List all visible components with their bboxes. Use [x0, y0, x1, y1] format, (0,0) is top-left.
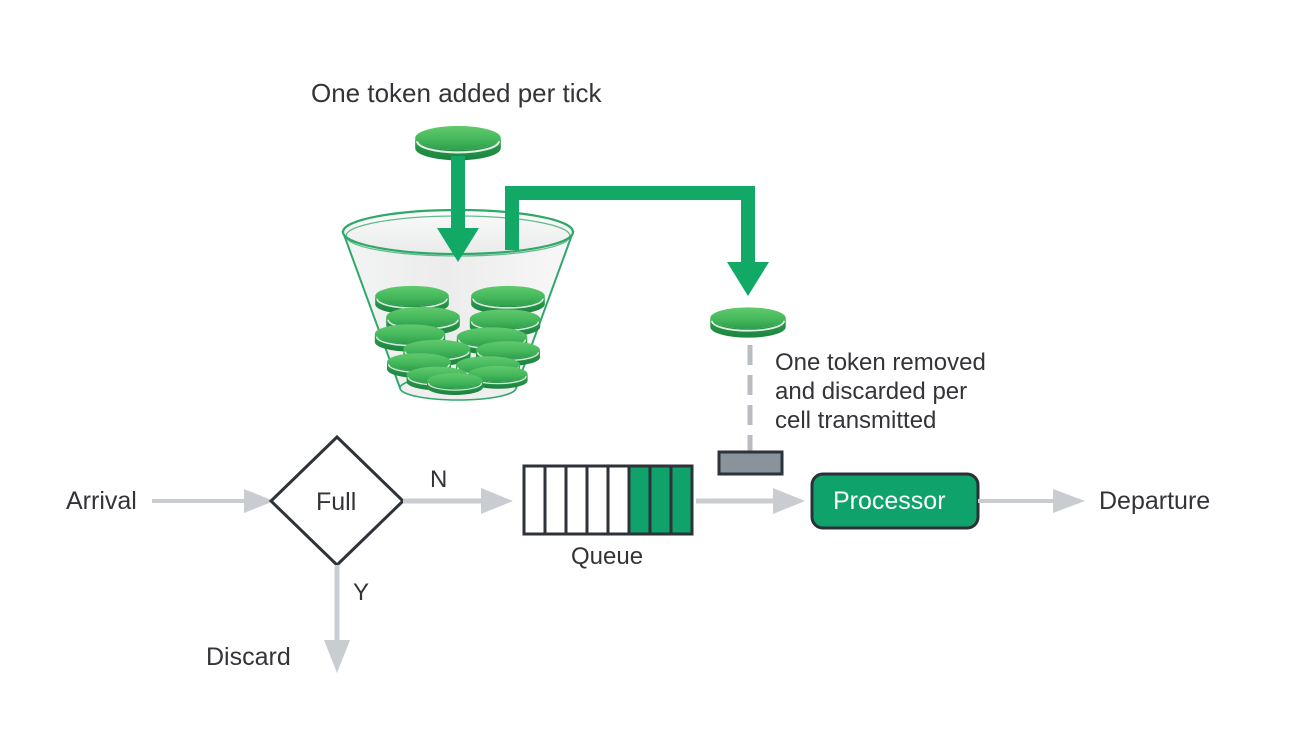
full-label: Full — [316, 488, 356, 518]
discard-label: Discard — [206, 643, 291, 673]
queue-to-processor-arrow — [696, 488, 805, 514]
departure-label: Departure — [1099, 487, 1210, 517]
arrival-label: Arrival — [66, 487, 137, 517]
removed-token-icon — [710, 307, 785, 337]
no-branch-arrow — [403, 488, 513, 514]
processor-label: Processor — [833, 487, 946, 517]
arrival-arrow — [152, 489, 274, 513]
incoming-token-icon — [415, 126, 501, 160]
branch-yes-label: Y — [353, 579, 369, 607]
queue-label: Queue — [571, 543, 643, 571]
token-added-note: One token added per tick — [311, 78, 602, 109]
token-removed-note: One token removed and discarded per cell… — [775, 349, 986, 435]
transmitted-cell-block — [719, 452, 782, 474]
queue-cells — [524, 466, 692, 534]
departure-arrow — [978, 489, 1085, 513]
diagram-canvas — [0, 0, 1294, 748]
branch-no-label: N — [430, 466, 447, 494]
yes-branch-arrow — [324, 565, 350, 673]
token-bucket-diagram: One token added per tick One token remov… — [0, 0, 1294, 748]
